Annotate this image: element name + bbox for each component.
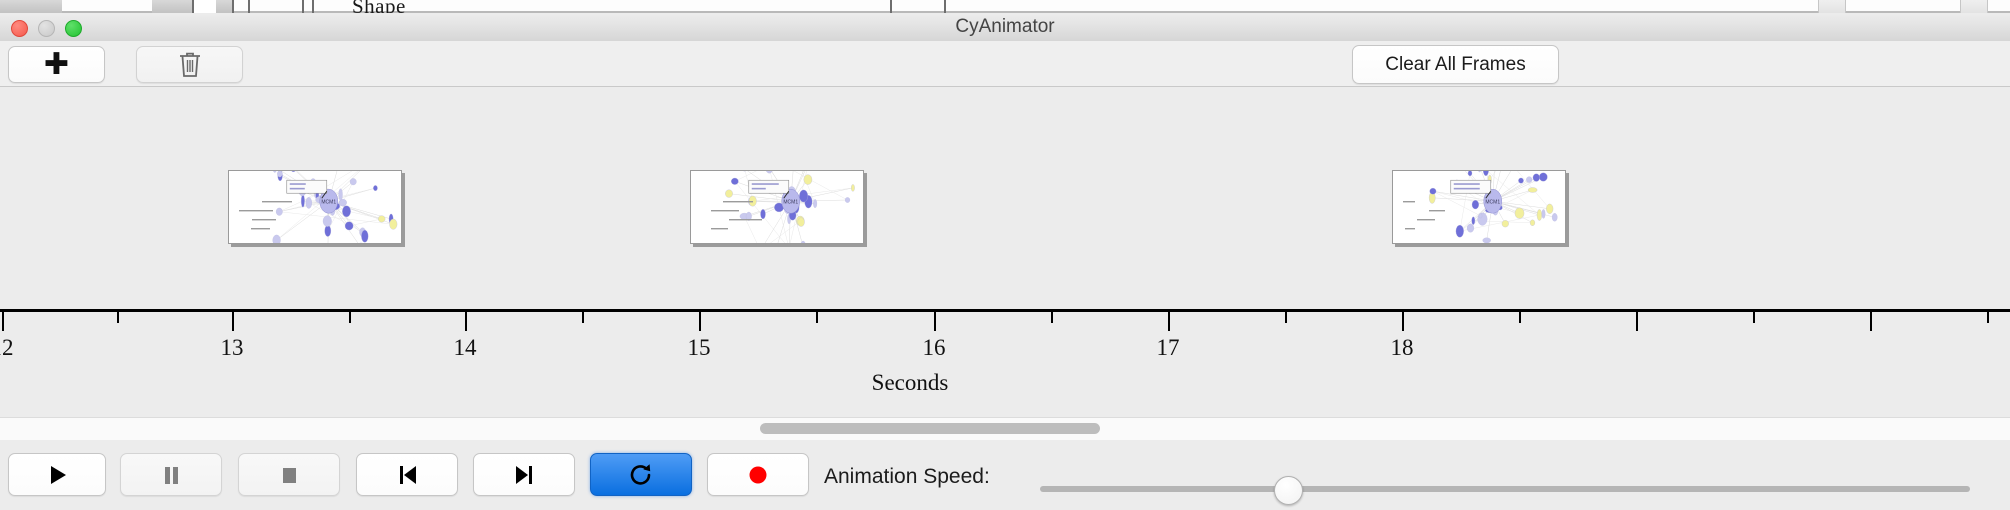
svg-text:MCM1: MCM1 xyxy=(1485,200,1500,206)
timeline-frame-thumbnail[interactable]: MCM1 xyxy=(1392,170,1566,244)
playback-control-bar: Animation Speed: xyxy=(0,440,2010,510)
axis-tick xyxy=(582,312,584,323)
skip-forward-icon xyxy=(511,462,537,488)
pause-icon xyxy=(158,462,184,488)
loop-button[interactable] xyxy=(590,453,692,496)
axis-tick xyxy=(1051,312,1053,323)
pause-button[interactable] xyxy=(120,453,222,496)
axis-tick xyxy=(1168,312,1170,331)
timeline-frame-thumbnail[interactable]: MCM1 xyxy=(228,170,402,244)
axis-tick xyxy=(349,312,351,323)
frame-toolbar: ✚ Clear All Frames xyxy=(0,41,2010,87)
animation-speed-slider[interactable] xyxy=(1040,486,1970,492)
title-bar[interactable]: CyAnimator xyxy=(0,13,2010,42)
skip-back-icon xyxy=(394,462,420,488)
window-title: CyAnimator xyxy=(0,13,2010,41)
play-icon xyxy=(44,462,70,488)
add-frame-button[interactable]: ✚ xyxy=(8,46,105,83)
animation-speed-label: Animation Speed: xyxy=(824,465,990,489)
skip-to-end-button[interactable] xyxy=(473,453,575,496)
cyanimator-window: Shape CyAnimator ✚ Clear All Fra xyxy=(0,0,2010,510)
axis-tick xyxy=(1870,312,1872,331)
record-icon xyxy=(745,462,771,488)
timeline-panel[interactable]: 12131415161718 MCM1MCM1MCM1 Seconds xyxy=(0,87,2010,417)
plus-icon: ✚ xyxy=(44,50,69,80)
svg-text:MCM1: MCM1 xyxy=(321,200,336,206)
timeline-axis xyxy=(0,309,2010,312)
trash-icon xyxy=(178,51,202,78)
stop-icon xyxy=(276,462,302,488)
axis-tick xyxy=(699,312,701,331)
axis-tick xyxy=(1285,312,1287,323)
axis-tick xyxy=(2,312,4,331)
axis-tick xyxy=(232,312,234,331)
timeline-frame-thumbnail[interactable]: MCM1 xyxy=(690,170,864,244)
axis-tick xyxy=(1636,312,1638,331)
clear-all-frames-label: Clear All Frames xyxy=(1385,54,1525,76)
axis-tick-label: 13 xyxy=(221,335,244,361)
record-button[interactable] xyxy=(707,453,809,496)
background-desktop-strip: Shape xyxy=(0,0,2010,13)
axis-tick-label: 12 xyxy=(0,335,14,361)
loop-icon xyxy=(627,461,655,489)
timeline-scrollbar[interactable] xyxy=(0,417,2010,441)
svg-text:MCM1: MCM1 xyxy=(783,200,798,206)
axis-tick-label: 14 xyxy=(454,335,477,361)
axis-tick xyxy=(117,312,119,323)
axis-tick-label: 15 xyxy=(688,335,711,361)
animation-speed-slider-thumb[interactable] xyxy=(1274,476,1303,505)
background-window-label: Shape xyxy=(352,0,406,13)
axis-tick xyxy=(1987,312,1989,323)
clear-all-frames-button[interactable]: Clear All Frames xyxy=(1352,45,1559,84)
axis-tick xyxy=(1753,312,1755,323)
axis-tick-label: 16 xyxy=(923,335,946,361)
axis-tick xyxy=(1519,312,1521,323)
scrollbar-thumb[interactable] xyxy=(760,423,1100,434)
axis-tick xyxy=(816,312,818,323)
axis-tick xyxy=(465,312,467,331)
axis-title: Seconds xyxy=(872,370,949,396)
axis-tick xyxy=(1402,312,1404,331)
play-button[interactable] xyxy=(8,453,106,496)
axis-tick-label: 18 xyxy=(1391,335,1414,361)
skip-to-start-button[interactable] xyxy=(356,453,458,496)
stop-button[interactable] xyxy=(238,453,340,496)
axis-tick xyxy=(934,312,936,331)
delete-frame-button[interactable] xyxy=(136,46,243,83)
axis-tick-label: 17 xyxy=(1157,335,1180,361)
